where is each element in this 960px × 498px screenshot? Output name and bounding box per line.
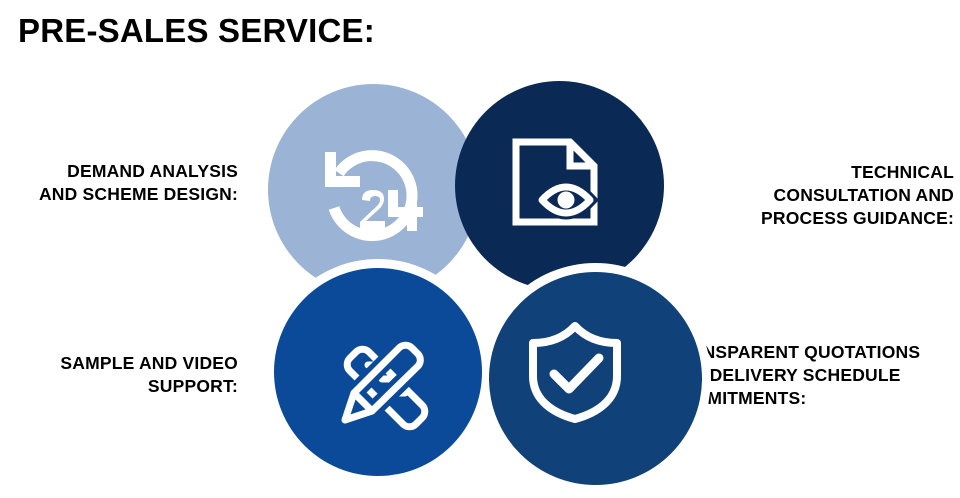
label-line: SAMPLE AND VIDEO	[6, 352, 238, 375]
label-demand-analysis: DEMAND ANALYSIS AND SCHEME DESIGN:	[6, 160, 238, 206]
label-transparent-quotations: TRANSPARENT QUOTATIONS AND DELIVERY SCHE…	[666, 341, 960, 410]
label-technical-consultation: TECHNICAL CONSULTATION AND PROCESS GUIDA…	[724, 161, 954, 230]
circle-transparent-quotations[interactable]	[489, 272, 702, 485]
label-line: AND SCHEME DESIGN:	[6, 183, 238, 206]
label-line: COMMITMENTS:	[666, 387, 960, 410]
circle-demand-analysis[interactable]	[268, 84, 479, 295]
label-line: TRANSPARENT QUOTATIONS	[666, 341, 960, 364]
label-line: CONSULTATION AND	[724, 184, 954, 207]
label-line: SUPPORT:	[6, 375, 238, 398]
circle-technical-consultation[interactable]	[455, 81, 664, 290]
circle-sample-video-support[interactable]	[274, 268, 482, 476]
label-line: PROCESS GUIDANCE:	[724, 207, 954, 230]
four-circle-diagram	[0, 0, 960, 498]
label-line: DEMAND ANALYSIS	[6, 160, 238, 183]
label-line: TECHNICAL	[724, 161, 954, 184]
label-sample-video-support: SAMPLE AND VIDEO SUPPORT:	[6, 352, 238, 398]
label-line: AND DELIVERY SCHEDULE	[666, 364, 960, 387]
